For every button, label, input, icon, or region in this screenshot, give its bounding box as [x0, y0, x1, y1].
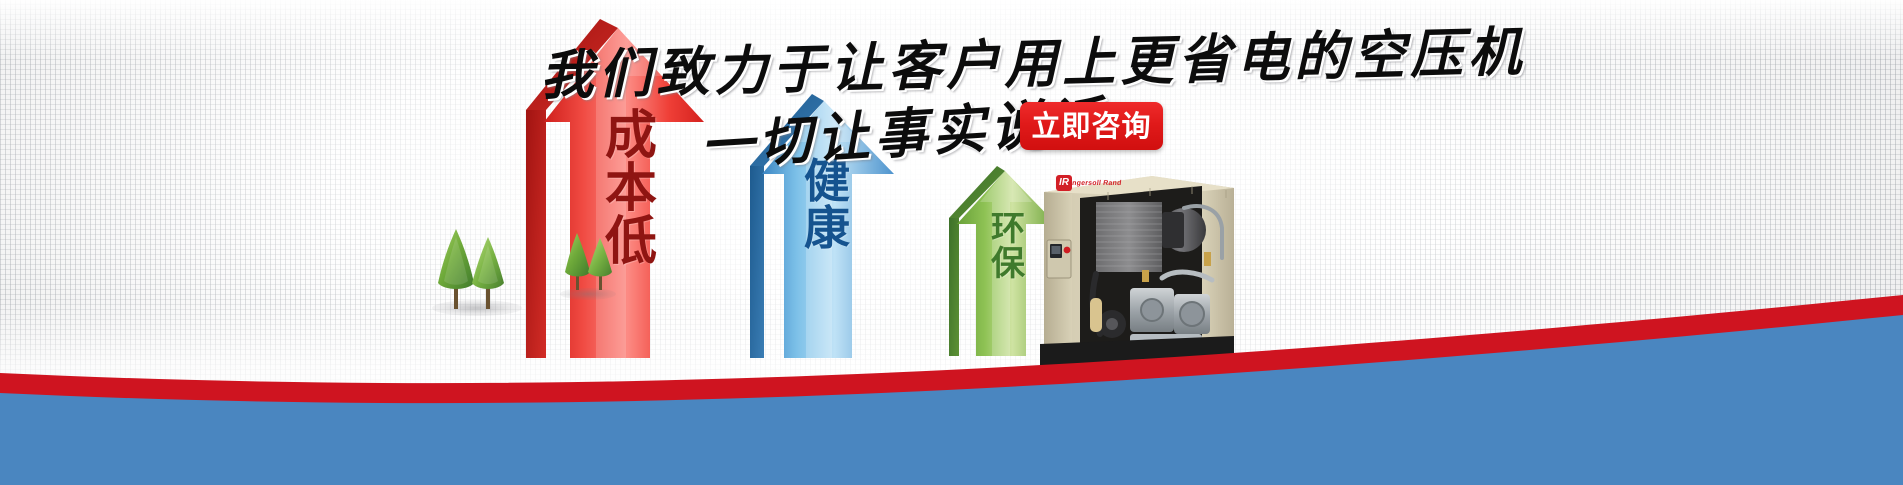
tree-icon-middle — [562, 230, 616, 292]
consult-now-button[interactable]: 立即咨询 — [1020, 102, 1163, 150]
machine-brand-text: Ingersoll Rand — [1070, 180, 1122, 187]
bottom-wave-band — [0, 295, 1903, 485]
promo-banner: 安 全 环 保 — [0, 0, 1903, 485]
